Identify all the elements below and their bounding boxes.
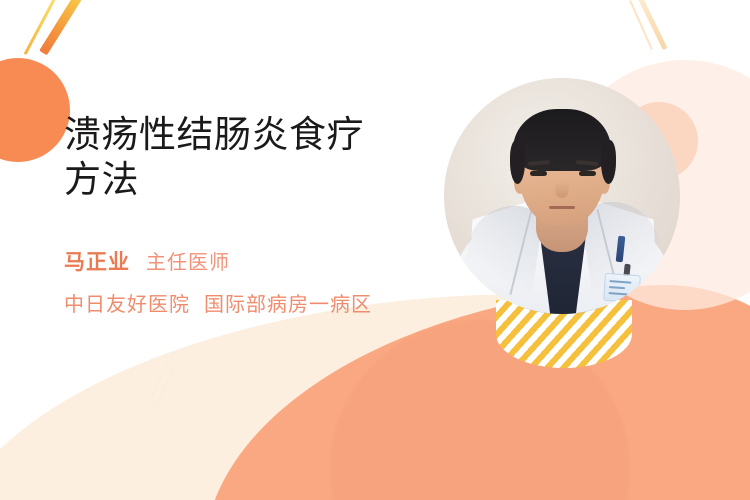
hospital-department: 国际部病房一病区: [204, 288, 372, 317]
badge-text-line-1: [609, 280, 631, 284]
diagonal-stroke-yellow-icon: [24, 0, 56, 55]
hair-side-right: [601, 140, 616, 184]
eye-left: [530, 171, 547, 176]
doctor-portrait: [444, 78, 680, 314]
nose: [556, 182, 569, 198]
hair-side-left: [510, 140, 525, 184]
diagonal-stroke-outline-icon: [149, 360, 176, 406]
hospital-id-badge: [603, 273, 641, 303]
doctor-affiliation-row: 中日友好医院 国际部病房一病区: [64, 288, 424, 317]
badge-text-line-2: [609, 286, 625, 289]
doctor-name: 马正业: [64, 246, 130, 276]
doctor-portrait-circle: [444, 78, 680, 314]
orange-circle-shape: [0, 58, 70, 162]
badge-text-line-3: [609, 292, 628, 295]
doctor-job-title: 主任医师: [146, 246, 230, 275]
hospital-name: 中日友好医院: [64, 288, 190, 317]
cover-text-block: 溃疡性结肠炎食疗 方法 马正业 主任医师 中日友好医院 国际部病房一病区: [64, 112, 424, 317]
wave-salmon-inner-blob: [330, 320, 630, 500]
diagonal-stroke-orange-icon: [39, 0, 82, 55]
doctor-name-row: 马正业 主任医师: [64, 246, 424, 276]
eye-right: [579, 171, 596, 176]
doctor-meta: 马正业 主任医师 中日友好医院 国际部病房一病区: [64, 246, 424, 317]
mouth: [549, 206, 575, 209]
medical-article-cover-card: 溃疡性结肠炎食疗 方法 马正业 主任医师 中日友好医院 国际部病房一病区: [0, 0, 750, 500]
diagonal-stroke-topright-a-icon: [638, 0, 668, 50]
diagonal-stroke-topright-b-icon: [629, 0, 653, 50]
page-title: 溃疡性结肠炎食疗 方法: [64, 112, 424, 202]
